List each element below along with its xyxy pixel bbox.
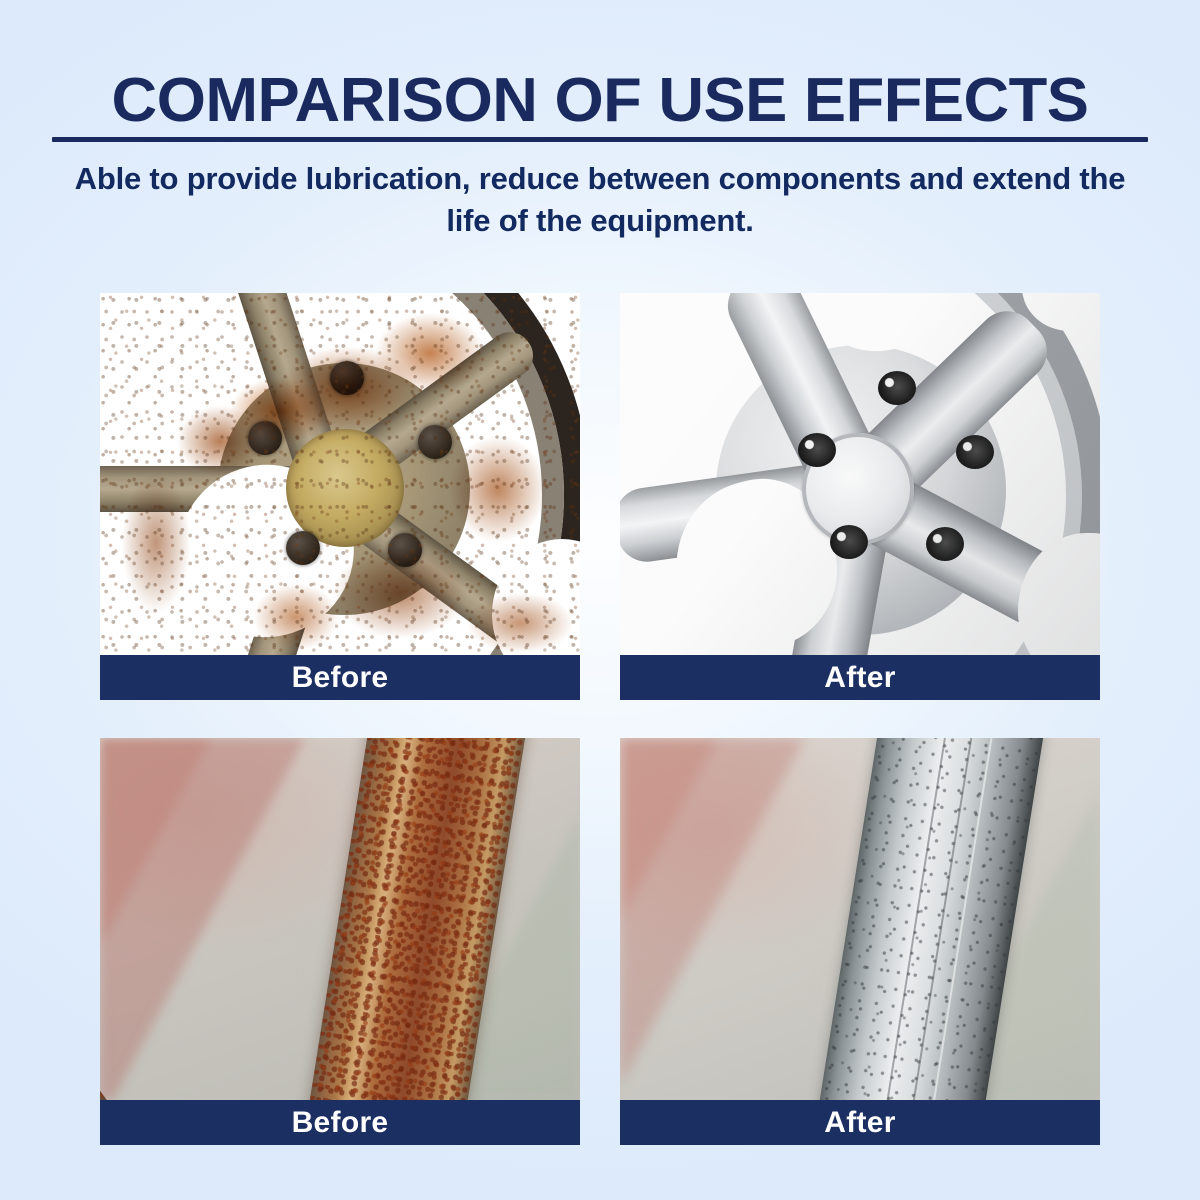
label-text: After bbox=[824, 663, 896, 693]
label-text: After bbox=[824, 1108, 896, 1138]
photo-rusty-pipe bbox=[100, 738, 580, 1100]
clean-pipe-illustration bbox=[620, 738, 1100, 1100]
comparison-card-wheel-after: After bbox=[620, 293, 1100, 700]
comparison-grid: Before bbox=[100, 293, 1100, 1143]
corrosion-grain-overlay bbox=[100, 293, 580, 655]
rusty-pipe-illustration bbox=[100, 738, 580, 1100]
label-text: Before bbox=[292, 663, 389, 693]
clean-wheel-illustration bbox=[620, 293, 1100, 655]
comparison-card-wheel-before: Before bbox=[100, 293, 580, 700]
label-bar-before: Before bbox=[100, 1100, 580, 1145]
photo-rusty-wheel bbox=[100, 293, 580, 655]
label-bar-after: After bbox=[620, 655, 1100, 700]
page-subtitle: Able to provide lubrication, reduce betw… bbox=[50, 158, 1150, 241]
page-title: COMPARISON OF USE EFFECTS bbox=[0, 0, 1200, 132]
comparison-card-pipe-after: After bbox=[620, 738, 1100, 1145]
label-text: Before bbox=[292, 1108, 389, 1138]
infographic-page: COMPARISON OF USE EFFECTS Able to provid… bbox=[0, 0, 1200, 1200]
rusty-wheel-illustration bbox=[100, 293, 580, 655]
wheel-shading-overlay bbox=[620, 293, 1100, 655]
photo-clean-pipe bbox=[620, 738, 1100, 1100]
label-bar-after: After bbox=[620, 1100, 1100, 1145]
header: COMPARISON OF USE EFFECTS Able to provid… bbox=[0, 0, 1200, 132]
comparison-card-pipe-before: Before bbox=[100, 738, 580, 1145]
label-bar-before: Before bbox=[100, 655, 580, 700]
photo-clean-wheel bbox=[620, 293, 1100, 655]
title-divider bbox=[52, 137, 1148, 142]
